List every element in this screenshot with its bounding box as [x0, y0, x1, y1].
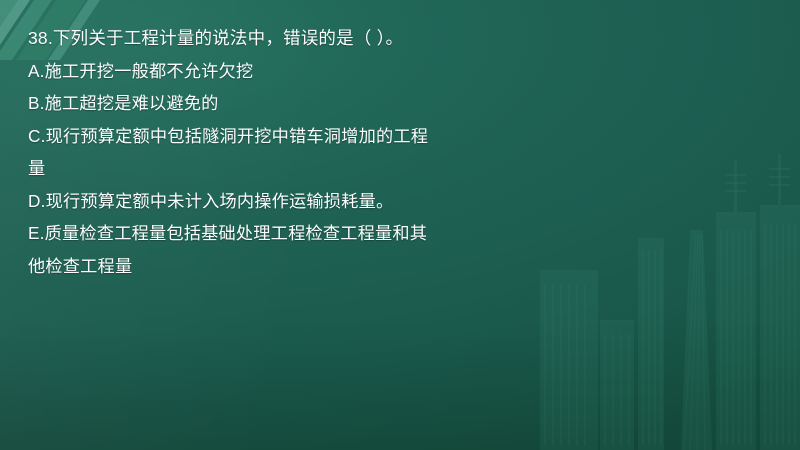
question-stem-line: 38.下列关于工程计量的说法中，错误的是（ ）。 [28, 22, 528, 55]
option-c-line[interactable]: C.现行预算定额中包括隧洞开挖中错车洞增加的工程 [28, 120, 528, 153]
option-d-line[interactable]: D.现行预算定额中未计入场内操作运输损耗量。 [28, 185, 528, 218]
option-e-line-wrap[interactable]: 他检查工程量 [28, 250, 528, 283]
option-c-line-wrap[interactable]: 量 [28, 152, 528, 185]
question-text-block: 38.下列关于工程计量的说法中，错误的是（ ）。 A.施工开挖一般都不允许欠挖 … [28, 22, 528, 282]
option-a-line[interactable]: A.施工开挖一般都不允许欠挖 [28, 55, 528, 88]
slide-canvas: 38.下列关于工程计量的说法中，错误的是（ ）。 A.施工开挖一般都不允许欠挖 … [0, 0, 800, 450]
option-b-line[interactable]: B.施工超挖是难以避免的 [28, 87, 528, 120]
option-e-line[interactable]: E.质量检查工程量包括基础处理工程检查工程量和其 [28, 217, 528, 250]
